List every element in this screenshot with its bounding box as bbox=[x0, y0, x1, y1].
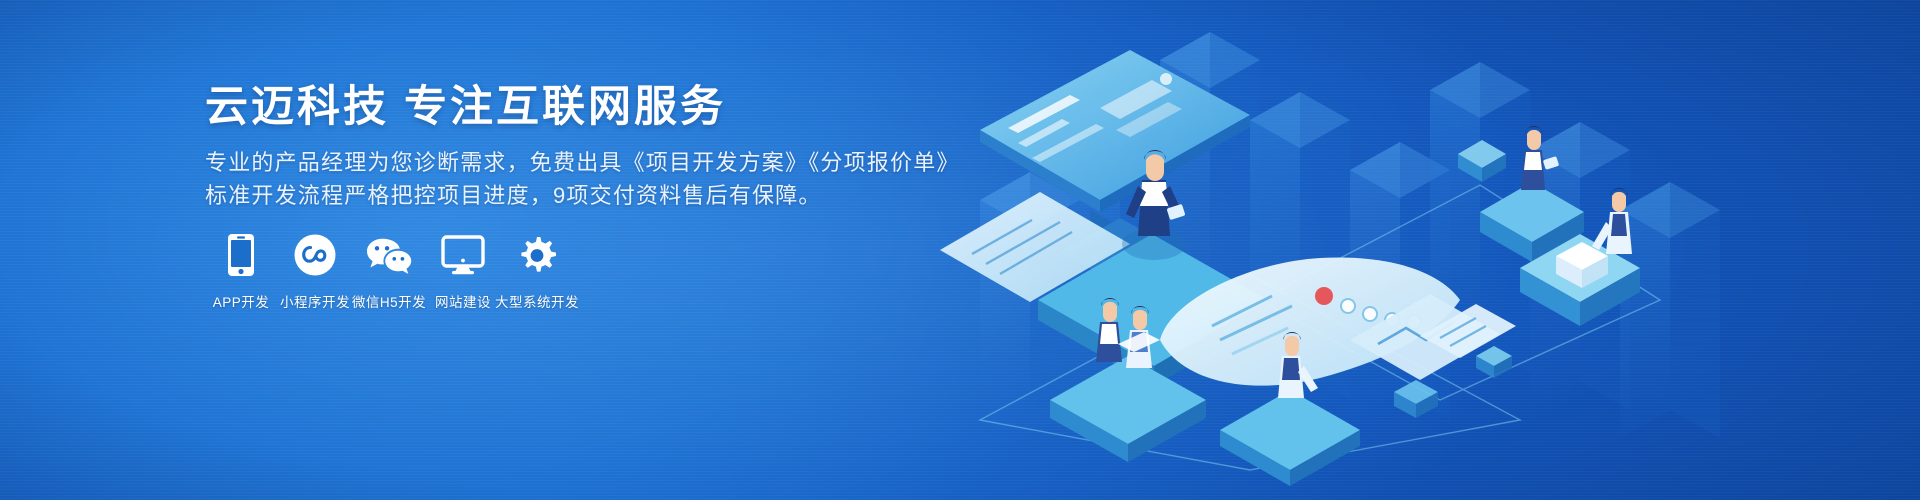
page-title: 云迈科技 专注互联网服务 bbox=[205, 72, 726, 134]
service-item-website[interactable]: 网站建设 bbox=[427, 232, 499, 311]
service-icon-list: APP开发 小程序开发 bbox=[205, 232, 575, 311]
isometric-data-platform-illustration bbox=[920, 0, 1920, 500]
service-item-mini-program[interactable]: 小程序开发 bbox=[279, 232, 351, 311]
service-label-wechat-h5: 微信H5开发 bbox=[352, 291, 426, 311]
subtitle-block: 专业的产品经理为您诊断需求，免费出具《项目开发方案》《分项报价单》 标准开发流程… bbox=[205, 146, 960, 212]
service-label-enterprise-system: 大型系统开发 bbox=[495, 291, 579, 311]
promo-banner: 云迈科技 专注互联网服务 专业的产品经理为您诊断需求，免费出具《项目开发方案》《… bbox=[0, 0, 1920, 500]
service-label-mini-program: 小程序开发 bbox=[280, 291, 350, 311]
subtitle-line-1: 专业的产品经理为您诊断需求，免费出具《项目开发方案》《分项报价单》 bbox=[205, 146, 960, 179]
subtitle-line-2: 标准开发流程严格把控项目进度，9项交付资料售后有保障。 bbox=[205, 179, 960, 212]
service-label-website: 网站建设 bbox=[435, 291, 491, 311]
monitor-icon bbox=[440, 232, 486, 278]
service-item-enterprise-system[interactable]: 大型系统开发 bbox=[501, 232, 573, 311]
gear-icon bbox=[514, 232, 560, 278]
wechat-icon bbox=[366, 232, 412, 278]
service-item-wechat-h5[interactable]: 微信H5开发 bbox=[353, 232, 425, 311]
service-item-app[interactable]: APP开发 bbox=[205, 232, 277, 311]
mobile-phone-icon bbox=[218, 232, 264, 278]
mini-program-icon bbox=[292, 232, 338, 278]
service-label-app: APP开发 bbox=[213, 291, 270, 311]
